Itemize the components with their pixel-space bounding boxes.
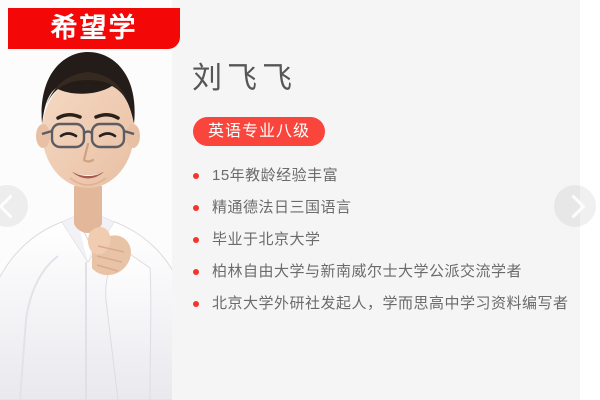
list-item: 北京大学外研社发起人，学而思高中学习资料编写者 <box>190 291 570 317</box>
teacher-profile-card: 希望学 刘飞飞 英语专业八级 15年教龄经验丰富 精通德法日三国语言 毕业于北京… <box>0 0 600 400</box>
list-item-label: 柏林自由大学与新南威尔士大学公派交流学者 <box>212 263 522 280</box>
credential-badge: 英语专业八级 <box>193 117 325 146</box>
bullet-dot-icon <box>193 237 199 243</box>
credential-badge-label: 英语专业八级 <box>208 124 310 140</box>
bullet-dot-icon <box>193 269 199 275</box>
list-item-label: 15年教龄经验丰富 <box>212 167 338 184</box>
list-item: 15年教龄经验丰富 <box>190 163 570 189</box>
chevron-right-icon <box>561 194 585 218</box>
brand-logo-text: 希望学 <box>51 15 138 42</box>
bullet-dot-icon <box>193 173 199 179</box>
carousel-next-button[interactable] <box>554 185 596 227</box>
brand-logo-badge: 希望学 <box>8 8 180 49</box>
chevron-left-icon <box>0 194 23 218</box>
list-item-label: 北京大学外研社发起人，学而思高中学习资料编写者 <box>212 295 569 312</box>
list-item: 柏林自由大学与新南威尔士大学公派交流学者 <box>190 259 570 285</box>
list-item-label: 毕业于北京大学 <box>212 231 321 248</box>
list-item: 毕业于北京大学 <box>190 227 570 253</box>
teacher-name: 刘飞飞 <box>192 64 297 94</box>
list-item-label: 精通德法日三国语言 <box>212 199 352 216</box>
teacher-info: 刘飞飞 英语专业八级 15年教龄经验丰富 精通德法日三国语言 毕业于北京大学 柏… <box>190 0 580 400</box>
qualification-list: 15年教龄经验丰富 精通德法日三国语言 毕业于北京大学 柏林自由大学与新南威尔士… <box>190 163 570 323</box>
list-item: 精通德法日三国语言 <box>190 195 570 221</box>
bullet-dot-icon <box>193 301 199 307</box>
bullet-dot-icon <box>193 205 199 211</box>
